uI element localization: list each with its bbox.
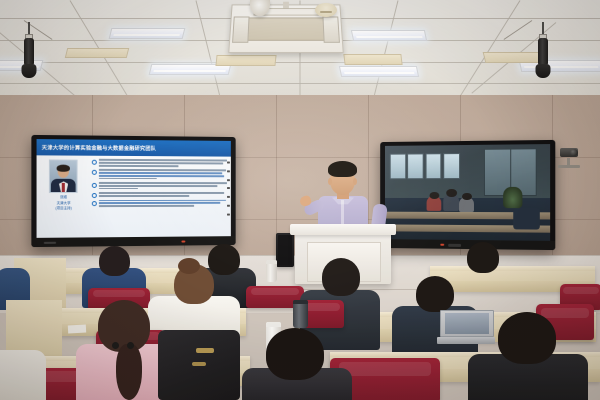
podium-monitor bbox=[276, 233, 294, 267]
white-thermos bbox=[266, 260, 277, 282]
attendee-left-foreground bbox=[0, 330, 46, 400]
steel-thermos bbox=[293, 300, 308, 328]
left-display-bezel: 天津大学的计算实验金融与大数据金融研究团队 张维 bbox=[37, 139, 231, 238]
display-side-buttons[interactable] bbox=[227, 162, 229, 215]
slide-body: 张维 天津大学 (项目主持) bbox=[37, 156, 231, 238]
left-display-logo bbox=[44, 242, 56, 244]
bullet-dot-icon bbox=[91, 193, 96, 198]
slide-bullet bbox=[91, 192, 227, 198]
slide-bullet bbox=[91, 182, 227, 190]
portrait-photo bbox=[49, 160, 78, 194]
ceiling-light-panel bbox=[109, 28, 186, 39]
slide-bullet-column bbox=[90, 156, 230, 237]
slide-bullet bbox=[91, 200, 227, 209]
ceiling-diffuser-panel bbox=[215, 55, 276, 66]
video-feed bbox=[385, 144, 550, 241]
bullet-dot-icon bbox=[91, 170, 96, 175]
slide-title-bar: 天津大学的计算实验金融与大数据金融研究团队 bbox=[37, 139, 231, 157]
slide-portrait-column: 张维 天津大学 (项目主持) bbox=[37, 156, 91, 238]
hair-bun bbox=[178, 258, 200, 274]
smoke-detector-icon bbox=[315, 3, 337, 17]
slide-title: 天津大学的计算实验金融与大数据金融研究团队 bbox=[42, 144, 156, 152]
bullet-dot-icon bbox=[91, 160, 96, 165]
left-flat-panel-display[interactable]: 天津大学的计算实验金融与大数据金融研究团队 张维 bbox=[31, 135, 235, 247]
attendee-black-jacket bbox=[468, 312, 588, 400]
ceiling bbox=[0, 0, 600, 97]
right-flat-panel-display[interactable] bbox=[380, 140, 555, 250]
ponytail bbox=[116, 344, 142, 400]
left-display-power-led bbox=[181, 241, 185, 243]
ceiling-light-panel bbox=[339, 66, 419, 77]
ceiling-light-panel bbox=[351, 30, 427, 41]
presenter bbox=[300, 160, 386, 232]
security-camera-icon bbox=[556, 148, 582, 168]
caption-org: 天津大学 bbox=[56, 201, 72, 206]
ceiling-diffuser-panel bbox=[483, 52, 546, 63]
right-display-bezel bbox=[385, 144, 550, 241]
hair-bow bbox=[112, 342, 134, 351]
slide-bullet bbox=[91, 169, 227, 180]
bullet-dot-icon bbox=[91, 201, 96, 206]
bullet-dot-icon bbox=[91, 183, 96, 188]
backpack-zipper-pull bbox=[192, 362, 206, 366]
ceiling-diffuser-panel bbox=[65, 48, 129, 58]
lecture-hall-photo: 天津大学的计算实验金融与大数据金融研究团队 张维 bbox=[0, 0, 600, 400]
slide-bullet bbox=[91, 159, 227, 168]
backpack-zipper-pull bbox=[196, 348, 214, 353]
right-display-power-led bbox=[440, 244, 444, 246]
attendee-near-podium bbox=[242, 328, 352, 400]
caption-role: (项目主持) bbox=[56, 206, 72, 211]
presentation-slide: 天津大学的计算实验金融与大数据金融研究团队 张维 bbox=[37, 139, 231, 238]
ceiling-diffuser-panel bbox=[343, 54, 402, 65]
portrait-caption: 张维 天津大学 (项目主持) bbox=[56, 196, 72, 212]
